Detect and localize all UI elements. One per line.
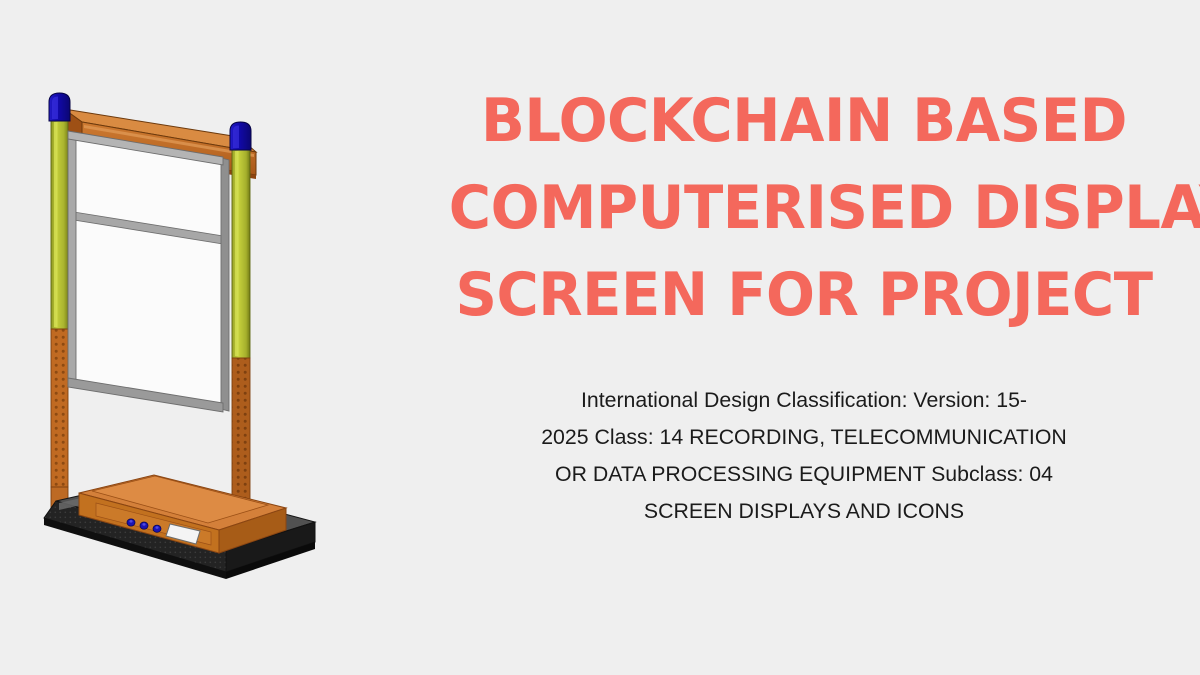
button-2-gloss [142, 523, 145, 526]
subtitle-line-3: OR DATA PROCESSING EQUIPMENT Subclass: 0… [452, 456, 1157, 493]
text-pane: BLOCKCHAIN BASED COMPUTERISED DISPLAY SC… [420, 0, 1188, 675]
frame-rail-right [221, 158, 229, 411]
illustration-pane [0, 0, 400, 675]
title-line-1: BLOCKCHAIN BASED [449, 78, 1159, 165]
right-post-lower [232, 358, 250, 516]
subtitle-line-1: International Design Classification: Ver… [452, 382, 1157, 419]
title-line-2: COMPUTERISED DISPLAY [449, 165, 1159, 252]
title-line-3: SCREEN FOR PROJECT [449, 252, 1159, 339]
right-post-highlight [235, 151, 239, 356]
poster-canvas: BLOCKCHAIN BASED COMPUTERISED DISPLAY SC… [0, 0, 1200, 675]
left-post-highlight [54, 122, 58, 327]
left-post-upper [51, 121, 68, 329]
frame-rail-left [68, 131, 76, 388]
right-cap-highlight [233, 126, 239, 149]
right-post [232, 150, 250, 545]
left-post-lower [51, 329, 68, 487]
screen-frame [68, 131, 229, 412]
right-post-upper [232, 150, 250, 358]
subtitle-line-2: 2025 Class: 14 RECORDING, TELECOMMUNICAT… [452, 419, 1157, 456]
page-title: BLOCKCHAIN BASED COMPUTERISED DISPLAY SC… [434, 78, 1174, 339]
product-illustration [18, 75, 378, 585]
left-post-cap [49, 93, 70, 121]
right-post-cap [230, 122, 251, 150]
left-post [51, 121, 68, 517]
button-3-gloss [155, 526, 158, 529]
subtitle-line-4: SCREEN DISPLAYS AND ICONS [452, 493, 1157, 530]
left-cap-highlight [52, 97, 58, 120]
classification-description: International Design Classification: Ver… [448, 382, 1160, 530]
button-1-gloss [129, 520, 132, 523]
